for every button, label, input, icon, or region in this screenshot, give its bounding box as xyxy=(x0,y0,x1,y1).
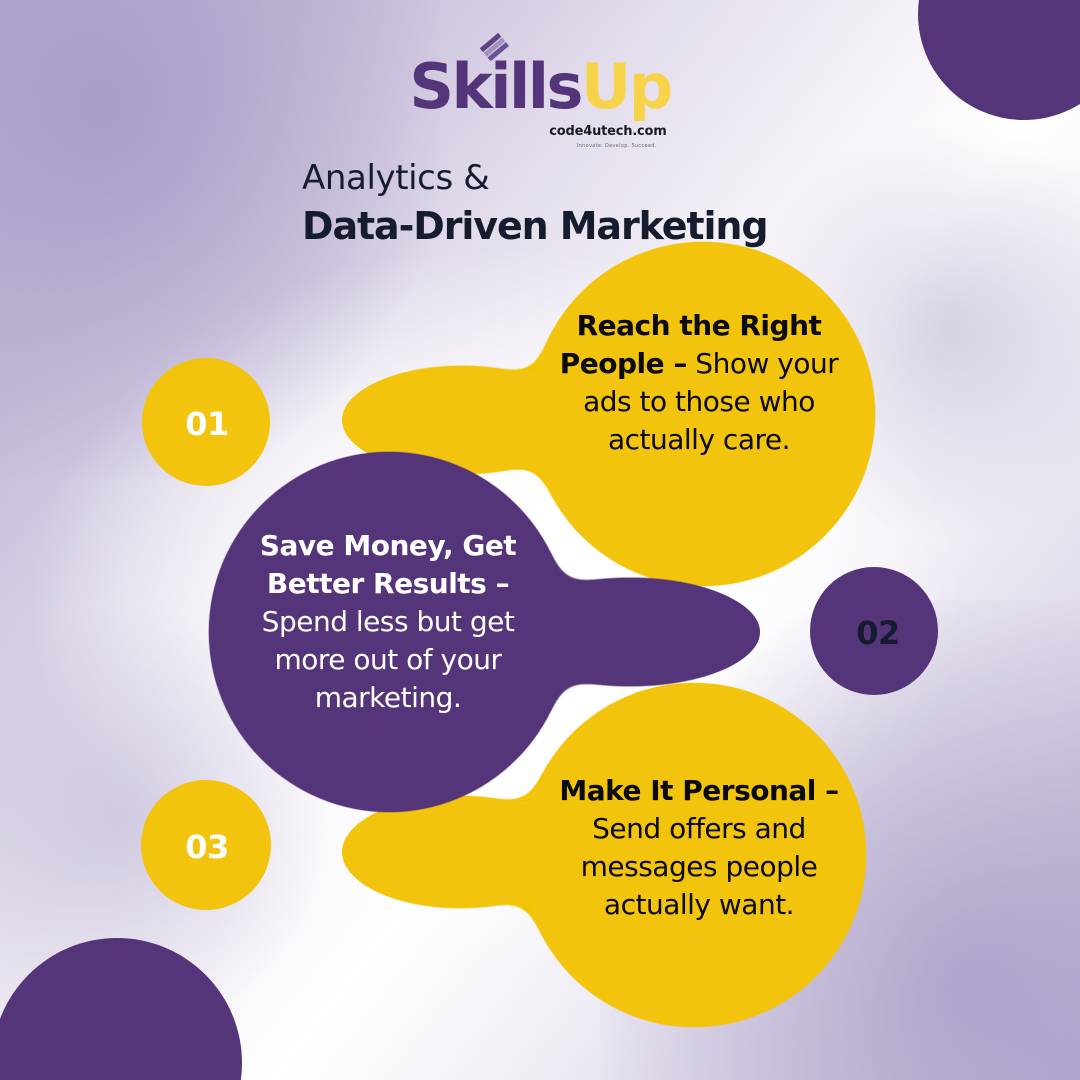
logo-sub-tagline: Innovate. Develop. Succeed. xyxy=(577,144,657,149)
item-text-03: Make It Personal – Send offers and messa… xyxy=(544,772,854,924)
item-text-01: Reach the Right People – Show your ads t… xyxy=(549,307,849,459)
logo-text-up: Up xyxy=(581,56,671,118)
item-text-02: Save Money, Get Better Results – Spend l… xyxy=(238,527,538,717)
item-body-02: Spend less but get more out of your mark… xyxy=(262,605,515,714)
item-body-03: Send offers and messages people actually… xyxy=(581,812,818,921)
page-title: Data-Driven Marketing xyxy=(302,204,767,250)
infographic-poster: Skills Up code4utech.com Innovate. Devel… xyxy=(0,0,1080,1080)
item-lead-02: Save Money, Get Better Results – xyxy=(260,529,516,600)
badge-number-02: 02 xyxy=(838,614,918,652)
logo-tagline: code4utech.com xyxy=(549,125,666,138)
brand-logo: Skills Up code4utech.com Innovate. Devel… xyxy=(0,56,1080,118)
page-heading: Analytics & Data-Driven Marketing xyxy=(302,158,767,250)
item-lead-03: Make It Personal – xyxy=(559,774,838,807)
heading-eyebrow: Analytics & xyxy=(302,158,767,198)
logo-wordmark: Skills Up code4utech.com Innovate. Devel… xyxy=(409,56,670,118)
badge-number-01: 01 xyxy=(167,405,247,443)
badge-number-03: 03 xyxy=(167,828,247,866)
book-stack-icon xyxy=(479,32,513,66)
